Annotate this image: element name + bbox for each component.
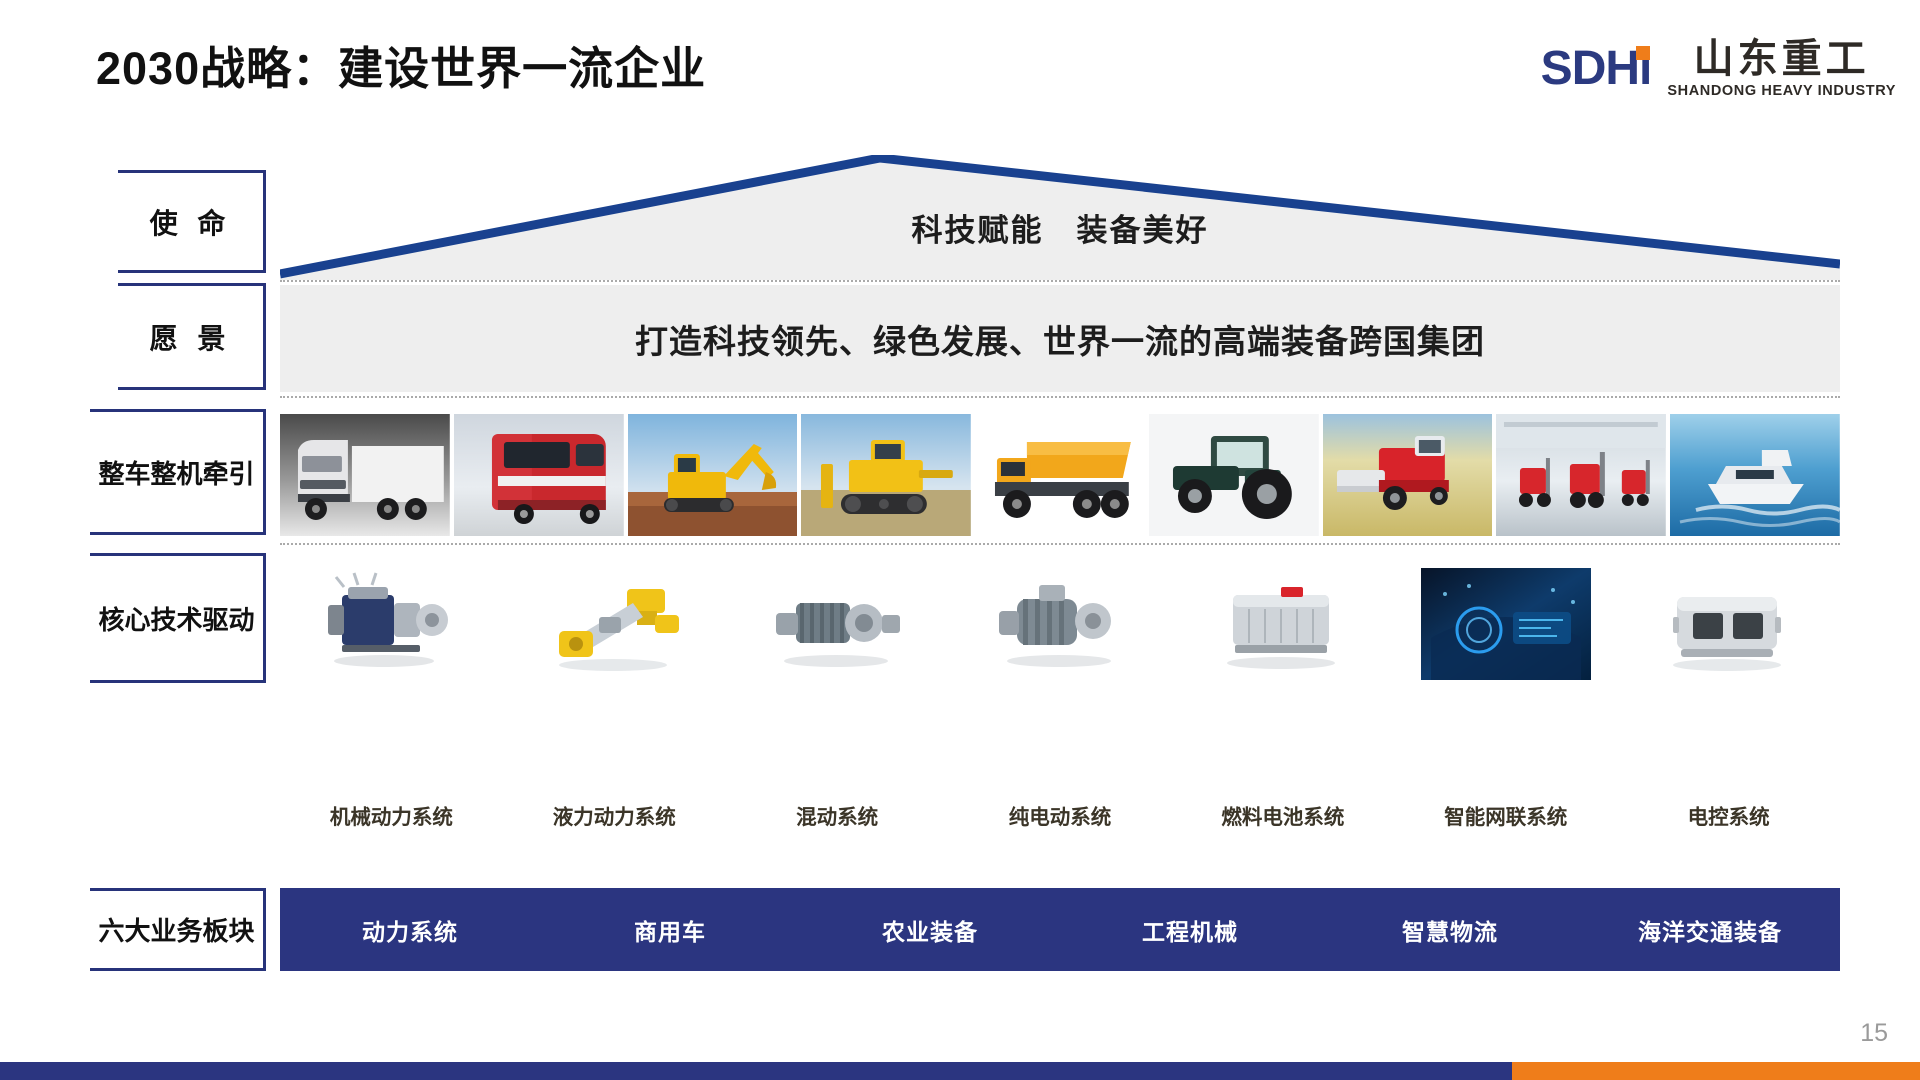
vehicle-image-heavy-truck xyxy=(280,414,450,536)
business-segments-bar: 动力系统 商用车 农业装备 工程机械 智慧物流 海洋交通装备 xyxy=(280,888,1840,971)
tech-label-hydraulic-power: 液力动力系统 xyxy=(503,800,726,830)
row-label-vehicles-text: 整车整机牵引 xyxy=(98,454,254,491)
vehicle-image-coach-bus xyxy=(454,414,624,536)
business-segment-commercial-vehicles: 商用车 xyxy=(540,913,800,947)
sdhi-wordmark-icon: SDHi xyxy=(1541,45,1652,93)
tech-label-mechanical-power: 机械动力系统 xyxy=(280,800,503,830)
business-segment-power-systems: 动力系统 xyxy=(280,913,540,947)
tech-image-hydraulic-drive xyxy=(503,556,726,691)
row-label-vehicles: 整车整机牵引 xyxy=(90,409,266,535)
tech-image-smart-cockpit xyxy=(1394,556,1617,691)
mission-text: 科技赋能 装备美好 xyxy=(280,205,1840,250)
vision-band: 打造科技领先、绿色发展、世界一流的高端装备跨国集团 xyxy=(280,285,1840,392)
core-tech-image-strip xyxy=(280,556,1840,691)
business-segment-construction-machinery: 工程机械 xyxy=(1060,913,1320,947)
vehicle-image-tractor xyxy=(1149,414,1319,536)
row-label-business: 六大业务板块 xyxy=(90,888,266,971)
row-label-core-tech-text: 核心技术驱动 xyxy=(98,600,254,637)
brand-name-cn: 山东重工 xyxy=(1694,38,1870,80)
page-number: 15 xyxy=(1860,1019,1888,1048)
tech-label-electronic-control: 电控系统 xyxy=(1617,800,1840,830)
slide-root: 2030战略：建设世界一流企业 SDHi 山东重工 SHANDONG HEAVY… xyxy=(0,0,1920,1080)
footer-bar-orange xyxy=(1512,1062,1920,1080)
row-label-mission-text: 使 命 xyxy=(150,202,232,242)
tech-label-pure-electric: 纯电动系统 xyxy=(949,800,1172,830)
business-segment-agricultural-equipment: 农业装备 xyxy=(800,913,1060,947)
vision-text: 打造科技领先、绿色发展、世界一流的高端装备跨国集团 xyxy=(635,315,1485,363)
row-label-core-tech: 核心技术驱动 xyxy=(90,553,266,683)
vehicle-image-strip xyxy=(280,414,1840,536)
tech-label-smart-connected: 智能网联系统 xyxy=(1394,800,1617,830)
page-title: 2030战略：建设世界一流企业 xyxy=(96,32,706,97)
business-segment-smart-logistics: 智慧物流 xyxy=(1320,913,1580,947)
tech-image-fuel-cell xyxy=(1171,556,1394,691)
vehicle-image-bulldozer xyxy=(801,414,971,536)
divider-vision-vehicles xyxy=(280,396,1840,398)
row-label-vision: 愿 景 xyxy=(118,283,266,390)
brand-name-block: 山东重工 SHANDONG HEAVY INDUSTRY xyxy=(1667,38,1896,99)
vehicle-image-mining-dump-truck xyxy=(975,414,1145,536)
brand-name-en: SHANDONG HEAVY INDUSTRY xyxy=(1667,83,1896,99)
sdhi-orange-dot-icon xyxy=(1636,46,1650,60)
business-segment-marine-transport-equipment: 海洋交通装备 xyxy=(1580,913,1840,947)
divider-vehicles-tech xyxy=(280,543,1840,545)
brand-logo: SDHi 山东重工 SHANDONG HEAVY INDUSTRY xyxy=(1541,38,1896,99)
row-label-business-text: 六大业务板块 xyxy=(98,911,254,948)
core-tech-label-row: 机械动力系统 液力动力系统 混动系统 纯电动系统 燃料电池系统 智能网联系统 电… xyxy=(280,800,1840,830)
vehicle-image-combine-harvester xyxy=(1323,414,1493,536)
vehicle-image-forklift-warehouse xyxy=(1496,414,1666,536)
row-label-mission: 使 命 xyxy=(118,170,266,273)
footer-bar xyxy=(0,1062,1920,1080)
tech-label-hybrid: 混动系统 xyxy=(726,800,949,830)
row-label-vision-text: 愿 景 xyxy=(150,317,232,357)
tech-image-hybrid-powertrain xyxy=(726,556,949,691)
vehicle-image-yacht xyxy=(1670,414,1840,536)
tech-image-ecu-controller xyxy=(1617,556,1840,691)
tech-image-diesel-engine xyxy=(280,556,503,691)
divider-mission-vision xyxy=(280,280,1840,282)
footer-bar-navy xyxy=(0,1062,1512,1080)
tech-label-fuel-cell: 燃料电池系统 xyxy=(1171,800,1394,830)
vehicle-image-excavator xyxy=(628,414,798,536)
tech-image-electric-drive xyxy=(949,556,1172,691)
sdhi-wordmark-text: SDHi xyxy=(1541,42,1652,95)
